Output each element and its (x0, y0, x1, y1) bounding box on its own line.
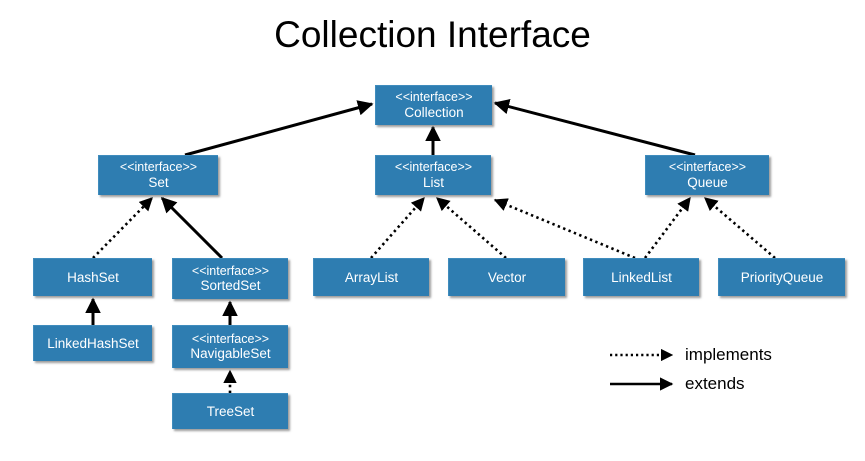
edge-linkedlist-to-list-implements (495, 200, 635, 258)
node-stereotype: <<interface>> (192, 264, 269, 279)
legend-label-extends: extends (685, 374, 745, 394)
node-navigableset[interactable]: <<interface>>NavigableSet (172, 325, 288, 368)
node-linkedhashset[interactable]: LinkedHashSet (33, 325, 152, 361)
node-queue[interactable]: <<interface>>Queue (645, 155, 769, 195)
node-label: Collection (404, 105, 463, 121)
node-label: HashSet (67, 270, 119, 286)
edge-queue-to-collection-extends (495, 103, 695, 155)
node-sortedset[interactable]: <<interface>>SortedSet (172, 258, 288, 299)
node-treeset[interactable]: TreeSet (172, 393, 288, 429)
node-vector[interactable]: Vector (448, 258, 565, 296)
node-linkedlist[interactable]: LinkedList (583, 258, 699, 296)
node-stereotype: <<interface>> (669, 160, 746, 175)
edge-vector-to-list-implements (437, 198, 506, 258)
node-label: LinkedHashSet (47, 336, 139, 352)
node-hashset[interactable]: HashSet (33, 258, 152, 296)
edge-set-to-collection-extends (185, 104, 372, 155)
node-label: List (423, 175, 444, 191)
node-stereotype: <<interface>> (395, 90, 472, 105)
node-label: SortedSet (200, 278, 260, 294)
edge-hashset-to-set-implements (93, 198, 152, 258)
node-stereotype: <<interface>> (395, 160, 472, 175)
node-list[interactable]: <<interface>>List (375, 155, 491, 195)
node-stereotype: <<interface>> (192, 332, 269, 347)
node-label: LinkedList (611, 270, 672, 286)
node-label: Queue (687, 175, 728, 191)
node-label: Set (148, 175, 168, 191)
edge-priorityqueue-to-queue-implements (705, 198, 775, 258)
node-collection[interactable]: <<interface>>Collection (375, 85, 492, 125)
edge-sortedset-to-set-extends (162, 198, 222, 258)
diagram-canvas: Collection Interface <<interface>>Collec… (0, 0, 865, 461)
node-label: PriorityQueue (741, 270, 824, 286)
node-label: NavigableSet (190, 346, 270, 362)
node-priorityqueue[interactable]: PriorityQueue (718, 258, 845, 296)
node-arraylist[interactable]: ArrayList (313, 258, 429, 296)
node-set[interactable]: <<interface>>Set (98, 155, 218, 195)
node-label: ArrayList (345, 270, 398, 286)
node-label: TreeSet (207, 404, 255, 420)
node-stereotype: <<interface>> (120, 160, 197, 175)
edge-arraylist-to-list-implements (371, 198, 424, 258)
node-label: Vector (488, 270, 526, 286)
edge-linkedlist-to-queue-implements (645, 198, 690, 258)
legend-label-implements: implements (685, 345, 772, 365)
